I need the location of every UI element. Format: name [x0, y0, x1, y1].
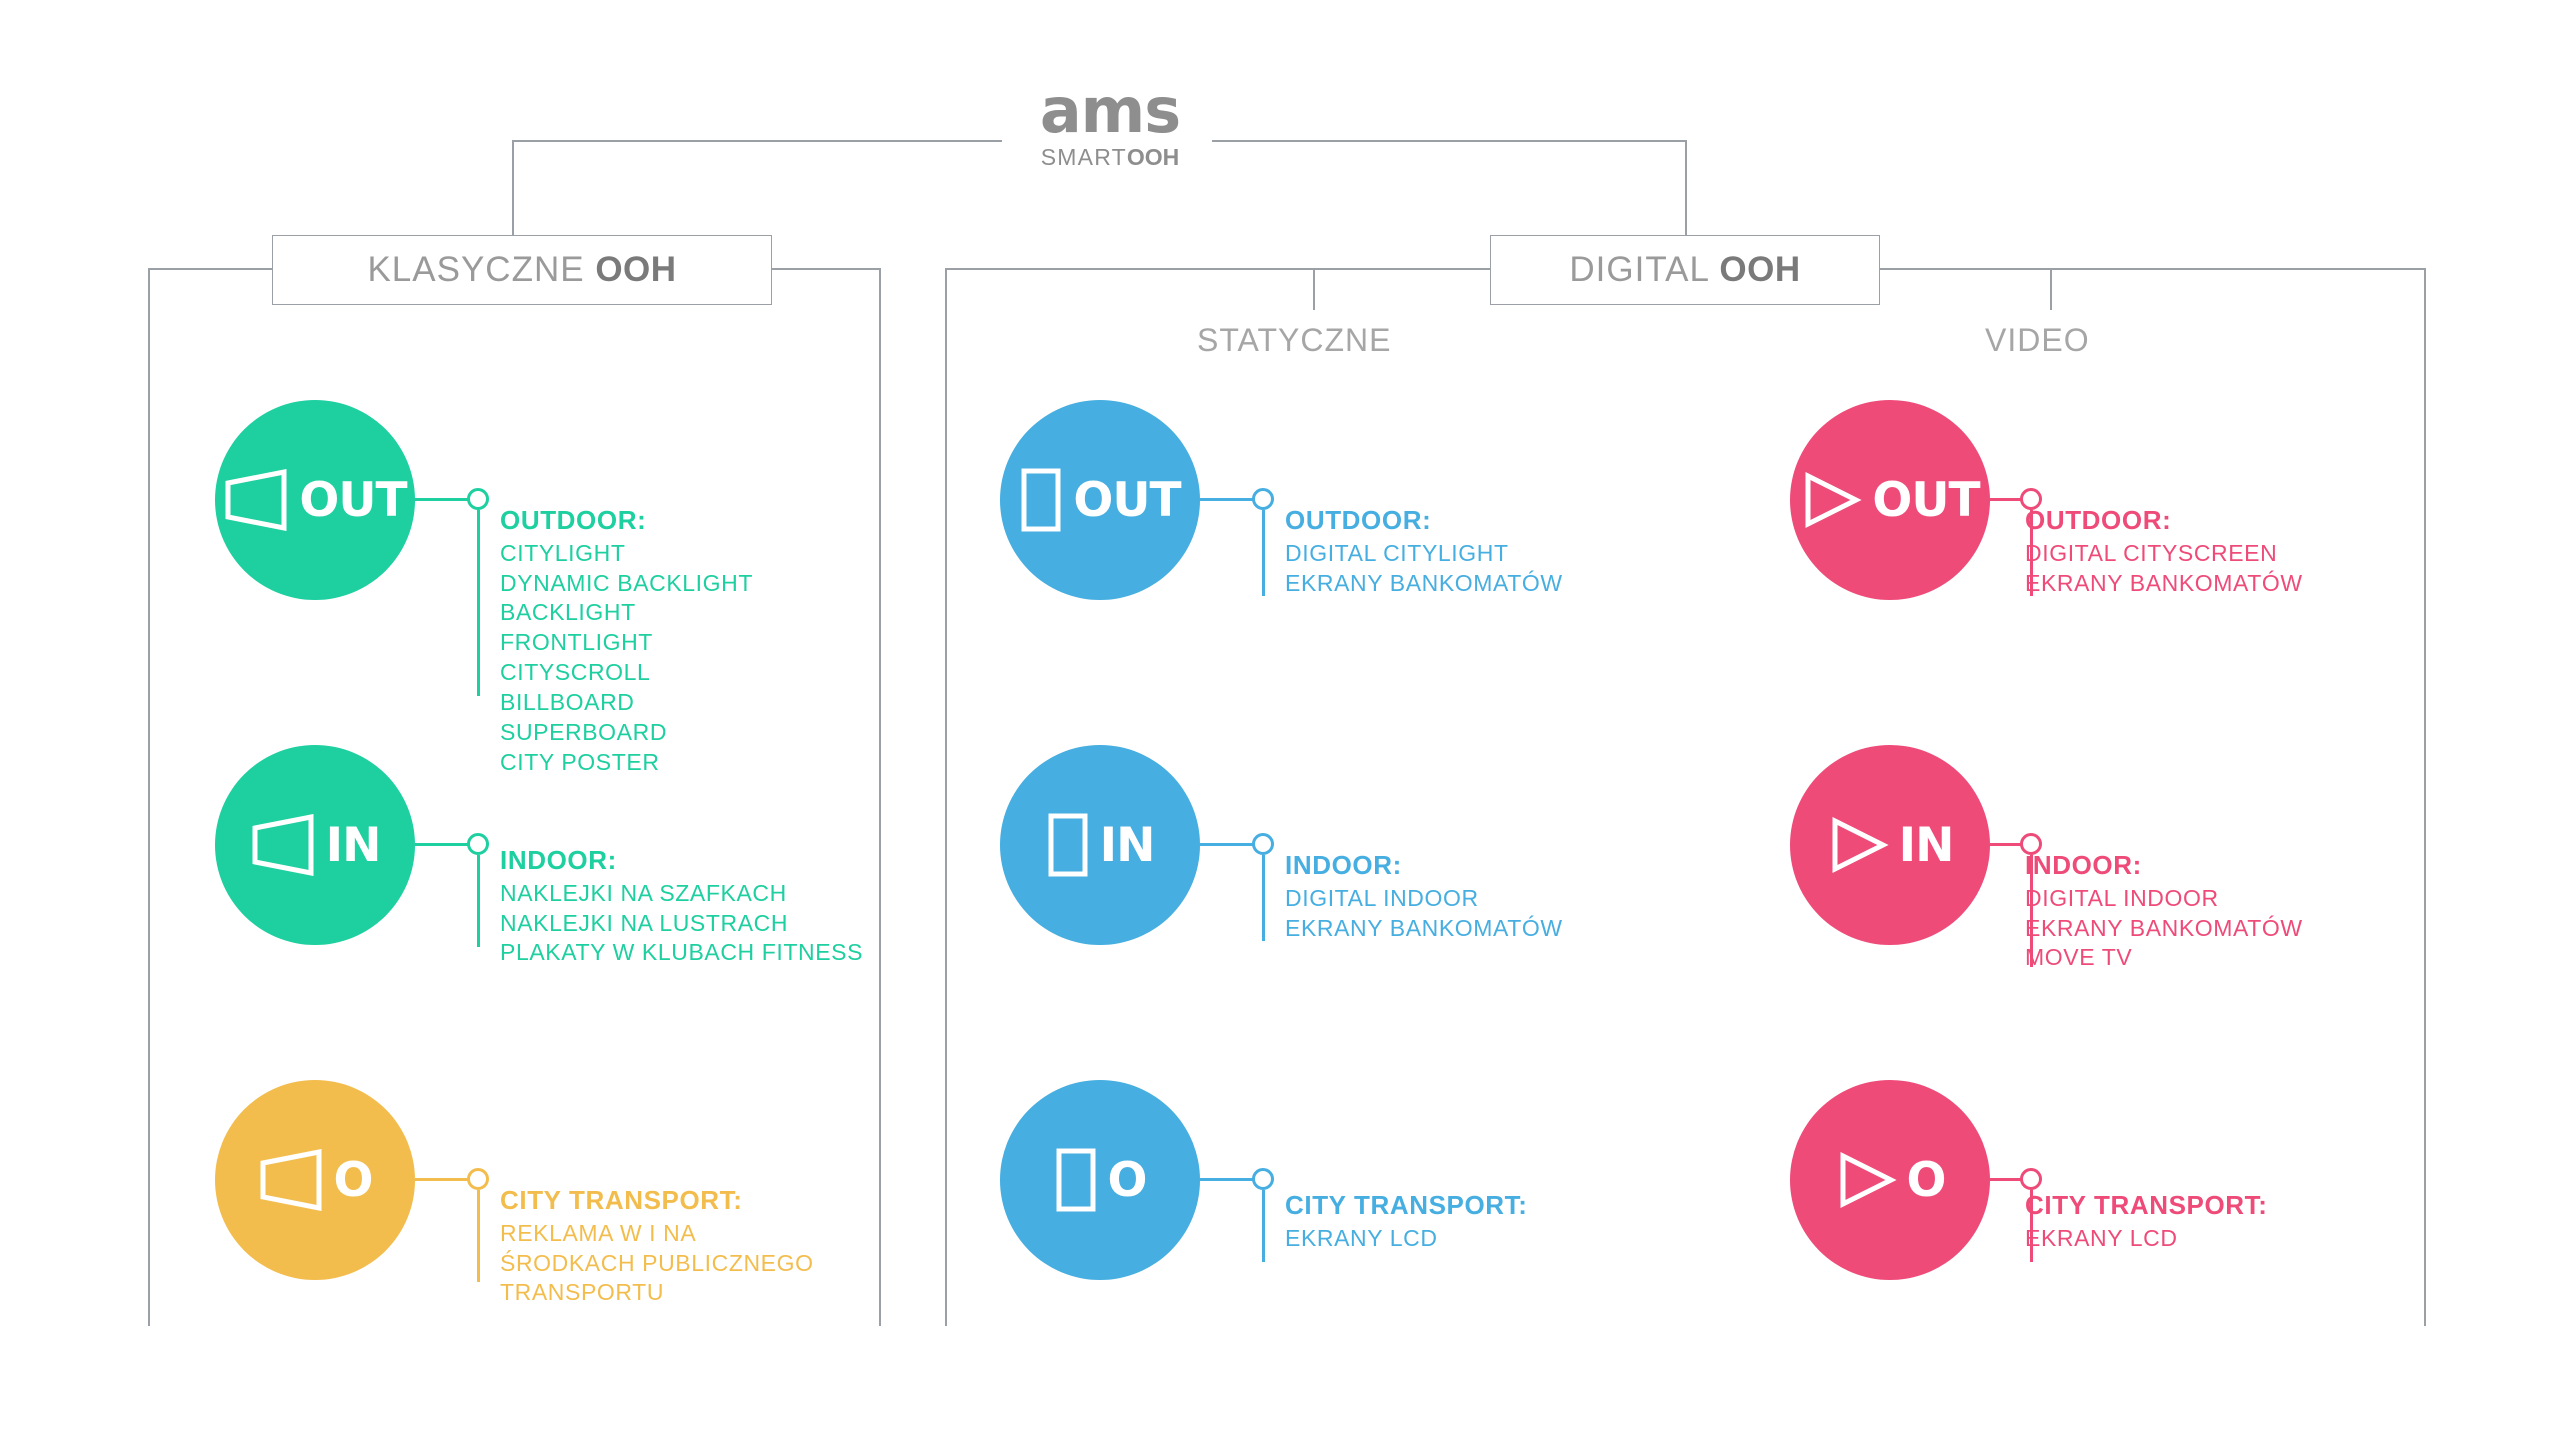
screen-portrait-icon	[1046, 812, 1090, 878]
classic-frame-left	[148, 268, 150, 1326]
digital-frame-right	[2424, 268, 2426, 1326]
digital-video-indoor-circle[interactable]: IN	[1790, 745, 1990, 945]
connector-stub	[1990, 498, 2022, 501]
screen-portrait-icon	[1019, 467, 1063, 533]
list-item: DYNAMIC BACKLIGHT	[500, 569, 753, 599]
play-triangle-icon	[1800, 469, 1862, 531]
list-item: DIGITAL INDOOR	[2025, 884, 2303, 914]
connector-stub	[1200, 1178, 1255, 1181]
list-item: FRONTLIGHT	[500, 628, 753, 658]
digital-bracket-left	[945, 268, 1492, 270]
connector-stub	[1200, 843, 1255, 846]
play-triangle-icon	[1827, 814, 1889, 876]
connector-ring	[1252, 1168, 1274, 1190]
connector-stub	[415, 843, 470, 846]
connector-ring	[1252, 488, 1274, 510]
digital-video-indoor-text: INDOOR: DIGITAL INDOOR EKRANY BANKOMATÓW…	[2025, 850, 2303, 973]
connector-drop	[1262, 1190, 1265, 1262]
list-item: DIGITAL CITYSCREEN	[2025, 539, 2303, 569]
digital-video-outdoor-badge: OUT	[1872, 477, 1979, 524]
digital-video-outdoor-circle[interactable]: OUT	[1790, 400, 1990, 600]
play-triangle-icon	[1835, 1149, 1897, 1211]
list-item: CITY POSTER	[500, 748, 753, 778]
connector-stub	[415, 498, 470, 501]
digital-static-outdoor-badge: OUT	[1073, 477, 1180, 524]
classic-outdoor-heading: OUTDOOR:	[500, 505, 753, 536]
connector-ring	[467, 488, 489, 510]
classic-city-transport-circle[interactable]: O	[215, 1080, 415, 1280]
classic-city-transport-text: CITY TRANSPORT: REKLAMA W I NA ŚRODKACH …	[500, 1185, 814, 1308]
list-item: PLAKATY W KLUBACH FITNESS	[500, 938, 863, 968]
brand-name: ams	[1010, 80, 1210, 142]
list-item: CITYLIGHT	[500, 539, 753, 569]
connector-ring	[467, 833, 489, 855]
connector-stub	[1990, 843, 2022, 846]
list-item: DIGITAL CITYLIGHT	[1285, 539, 1563, 569]
digital-drop-statyczne	[1313, 268, 1315, 310]
connector-drop	[477, 855, 480, 947]
classic-indoor-circle[interactable]: IN	[215, 745, 415, 945]
digital-video-indoor-badge: IN	[1899, 822, 1954, 869]
category-box-digital[interactable]: DIGITAL OOH	[1490, 235, 1880, 305]
brand-logo: ams SMARTOOH	[1010, 80, 1210, 169]
classic-city-transport-badge: O	[334, 1157, 373, 1204]
billboard-perspective-icon	[223, 469, 289, 531]
sublabel-statyczne: STATYCZNE	[1197, 322, 1391, 359]
digital-static-city-transport-text: CITY TRANSPORT: EKRANY LCD	[1285, 1190, 1528, 1254]
classic-bracket-right	[770, 268, 881, 270]
list-item: ŚRODKACH PUBLICZNEGO	[500, 1249, 814, 1279]
digital-static-city-transport-heading: CITY TRANSPORT:	[1285, 1190, 1528, 1221]
root-bracket-right-arm	[1212, 140, 1687, 142]
list-item: DIGITAL INDOOR	[1285, 884, 1563, 914]
connector-drop	[477, 510, 480, 696]
digital-drop-video	[2050, 268, 2052, 310]
connector-drop	[1262, 855, 1265, 941]
billboard-perspective-icon	[250, 814, 316, 876]
digital-bracket-right	[1878, 268, 2426, 270]
list-item: BILLBOARD	[500, 688, 753, 718]
brand-tagline-bold: OOH	[1127, 144, 1179, 170]
classic-frame-right	[879, 268, 881, 1326]
classic-outdoor-circle[interactable]: OUT	[215, 400, 415, 600]
connector-drop	[477, 1190, 480, 1282]
list-item: EKRANY LCD	[1285, 1224, 1528, 1254]
connector-ring	[2020, 1168, 2042, 1190]
digital-static-outdoor-heading: OUTDOOR:	[1285, 505, 1563, 536]
digital-static-indoor-text: INDOOR: DIGITAL INDOOR EKRANY BANKOMATÓW	[1285, 850, 1563, 943]
brand-tagline: SMARTOOH	[1010, 146, 1210, 169]
classic-indoor-badge: IN	[326, 822, 381, 869]
digital-video-outdoor-text: OUTDOOR: DIGITAL CITYSCREEN EKRANY BANKO…	[2025, 505, 2303, 598]
connector-stub	[1990, 1178, 2022, 1181]
classic-city-transport-heading: CITY TRANSPORT:	[500, 1185, 814, 1216]
list-item: CITYSCROLL	[500, 658, 753, 688]
digital-static-outdoor-text: OUTDOOR: DIGITAL CITYLIGHT EKRANY BANKOM…	[1285, 505, 1563, 598]
connector-stub	[415, 1178, 470, 1181]
category-label-digital: DIGITAL OOH	[1569, 250, 1800, 290]
category-box-klasyczne[interactable]: KLASYCZNE OOH	[272, 235, 772, 305]
digital-static-indoor-heading: INDOOR:	[1285, 850, 1563, 881]
connector-ring	[467, 1168, 489, 1190]
list-item: EKRANY BANKOMATÓW	[1285, 569, 1563, 599]
list-item: NAKLEJKI NA LUSTRACH	[500, 909, 863, 939]
classic-indoor-text: INDOOR: NAKLEJKI NA SZAFKACH NAKLEJKI NA…	[500, 845, 863, 968]
digital-static-city-transport-circle[interactable]: O	[1000, 1080, 1200, 1280]
classic-indoor-heading: INDOOR:	[500, 845, 863, 876]
classic-bracket-left	[148, 268, 274, 270]
list-item: SUPERBOARD	[500, 718, 753, 748]
list-item: TRANSPORTU	[500, 1278, 814, 1308]
digital-static-city-transport-badge: O	[1108, 1157, 1147, 1204]
digital-video-indoor-heading: INDOOR:	[2025, 850, 2303, 881]
connector-drop	[1262, 510, 1265, 596]
digital-video-outdoor-heading: OUTDOOR:	[2025, 505, 2303, 536]
list-item: EKRANY BANKOMATÓW	[2025, 914, 2303, 944]
list-item: EKRANY LCD	[2025, 1224, 2268, 1254]
classic-outdoor-badge: OUT	[299, 477, 406, 524]
list-item: REKLAMA W I NA	[500, 1219, 814, 1249]
digital-video-city-transport-text: CITY TRANSPORT: EKRANY LCD	[2025, 1190, 2268, 1254]
list-item: NAKLEJKI NA SZAFKACH	[500, 879, 863, 909]
brand-tagline-light: SMART	[1041, 144, 1127, 170]
list-item: MOVE TV	[2025, 943, 2303, 973]
digital-frame-left	[945, 268, 947, 1326]
list-item: EKRANY BANKOMATÓW	[2025, 569, 2303, 599]
infographic-canvas: ams SMARTOOH KLASYCZNE OOH DIGITAL OOH S…	[0, 0, 2560, 1440]
screen-portrait-icon	[1054, 1147, 1098, 1213]
digital-video-city-transport-badge: O	[1907, 1157, 1946, 1204]
digital-video-city-transport-heading: CITY TRANSPORT:	[2025, 1190, 2268, 1221]
digital-static-indoor-badge: IN	[1100, 822, 1155, 869]
digital-static-indoor-circle[interactable]: IN	[1000, 745, 1200, 945]
connector-ring	[1252, 833, 1274, 855]
billboard-perspective-icon	[258, 1149, 324, 1211]
sublabel-video: VIDEO	[1985, 322, 2090, 359]
list-item: BACKLIGHT	[500, 598, 753, 628]
root-bracket-left-arm	[512, 140, 1002, 142]
digital-static-outdoor-circle[interactable]: OUT	[1000, 400, 1200, 600]
digital-video-city-transport-circle[interactable]: O	[1790, 1080, 1990, 1280]
connector-stub	[1200, 498, 1255, 501]
category-label-klasyczne: KLASYCZNE OOH	[367, 250, 676, 290]
classic-outdoor-text: OUTDOOR: CITYLIGHT DYNAMIC BACKLIGHT BAC…	[500, 505, 753, 778]
list-item: EKRANY BANKOMATÓW	[1285, 914, 1563, 944]
